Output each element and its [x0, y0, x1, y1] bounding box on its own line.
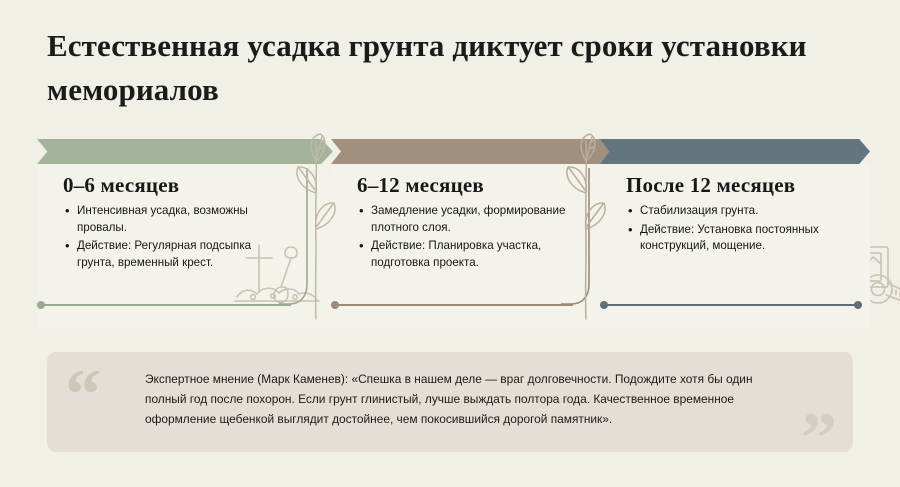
timeline-card-stage-6-12[interactable]: 6–12 месяцев Замедление усадки, формиров…: [331, 133, 615, 328]
stage-heading-6-12: 6–12 месяцев: [357, 173, 484, 198]
expert-quote-text: Экспертное мнение (Марк Каменев): «Спешк…: [145, 369, 788, 430]
page-title: Естественная усадка грунта диктует сроки…: [47, 24, 837, 112]
quote-close-icon: ”: [801, 402, 837, 474]
timeline-card-stage-0-6[interactable]: 0–6 месяцев Интенсивная усадка, возможны…: [37, 133, 333, 328]
timeline-rail-6-12: [331, 304, 615, 306]
timeline-line: [606, 304, 858, 306]
timeline-dot: [854, 301, 862, 309]
timeline-card-stage-after-12[interactable]: После 12 месяцев Стабилизация грунта. Де…: [600, 133, 870, 328]
timeline-rail-0-6: [37, 304, 333, 306]
stage-bullets-after-12: Стабилизация грунта. Действие: Установка…: [620, 203, 845, 257]
stage-bullets-0-6: Интенсивная усадка, возможны провалы. Де…: [57, 203, 277, 274]
list-item: Замедление усадки, формирование плотного…: [371, 203, 571, 236]
stage-banner-0-6: [37, 139, 333, 164]
stage-bullets-6-12: Замедление усадки, формирование плотного…: [351, 203, 571, 274]
list-item: Действие: Планировка участка, подготовка…: [371, 238, 571, 271]
stage-heading-0-6: 0–6 месяцев: [63, 173, 179, 198]
stage-banner-6-12: [331, 139, 615, 164]
expert-quote-box: “ ” Экспертное мнение (Марк Каменев): «С…: [47, 352, 853, 452]
timeline-section: 0–6 месяцев Интенсивная усадка, возможны…: [0, 133, 900, 328]
stage-heading-after-12: После 12 месяцев: [626, 173, 795, 198]
list-item: Стабилизация грунта.: [640, 203, 845, 220]
quote-open-icon: “: [65, 358, 101, 430]
list-item: Действие: Регулярная подсыпка грунта, вр…: [77, 238, 277, 271]
list-item: Интенсивная усадка, возможны провалы.: [77, 203, 277, 236]
timeline-line: [337, 304, 573, 306]
timeline-rail-after-12: [600, 304, 870, 306]
list-item: Действие: Установка постоянных конструкц…: [640, 222, 845, 255]
timeline-line: [43, 304, 291, 306]
stage-banner-after-12: [600, 139, 870, 164]
